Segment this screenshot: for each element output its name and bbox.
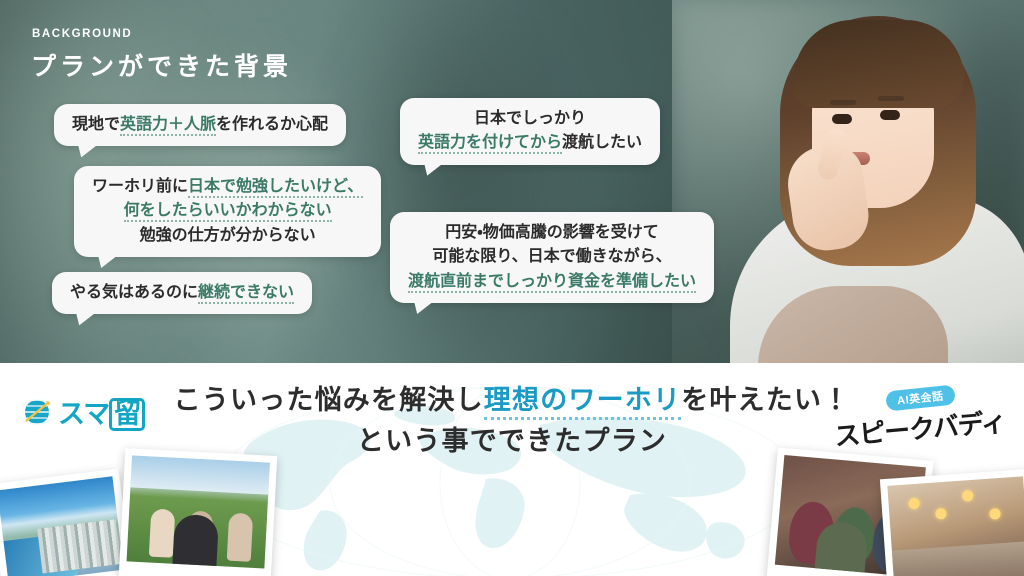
speech-bubble-2: ワーホリ前に日本で勉強したいけど、何をしたらいいかわからない勉強の仕方が分からな… (74, 166, 381, 257)
photo-cafe-interior (880, 469, 1024, 576)
bubble-2-line-1: ワーホリ前に日本で勉強したいけど、 (92, 175, 363, 199)
hero-section: BACKGROUND プランができた背景 現地で英語力＋人脈を作れるか心配 ワー… (0, 0, 1024, 363)
bubble-2-line-2: 何をしたらいいかわからない (92, 199, 363, 223)
photo-coastal-city (0, 469, 133, 576)
logo-smaryu-prefix: スマ (58, 399, 109, 429)
lead-line1-pre: こういった悩みを解決し (174, 385, 484, 415)
globe-icon (22, 397, 52, 427)
bubble-2-line-3: 勉強の仕方が分からない (92, 224, 363, 248)
slide-root: BACKGROUND プランができた背景 現地で英語力＋人脈を作れるか心配 ワー… (0, 0, 1024, 576)
logo-speakbuddy[interactable]: AI英会話 スピークバディ (834, 388, 1006, 446)
bubble-2-run-1-1: ワーホリ前に (92, 178, 188, 195)
bubble-1-line-1: 現地で英語力＋人脈を作れるか心配 (72, 113, 328, 137)
bubble-4-line-2: 英語力を付けてから渡航したい (418, 131, 642, 155)
bubble-1-run-1-1: 現地で (72, 116, 120, 133)
lead-line1-post: を叶えたい！ (681, 385, 850, 415)
photo-bulb-4 (989, 508, 1001, 520)
logo-speakbuddy-text: スピークバディ (833, 402, 1007, 454)
bubble-5-line-3: 渡航直前までしっかり資金を準備したい (408, 270, 696, 294)
photo-skyline (37, 520, 121, 574)
speech-bubble-4: 日本でしっかり英語力を付けてから渡航したい (400, 98, 660, 165)
bubble-5-line-2: 可能な限り、日本で働きながら、 (408, 245, 696, 269)
portrait-eye-left (832, 114, 852, 124)
bubble-5-line-1: 円安・物価高騰の影響を受けて (408, 221, 696, 245)
bubble-5-run-3-1: 渡航直前までしっかり資金を準備したい (408, 273, 696, 293)
photo-person-front (172, 514, 219, 568)
photo-bulb-2 (935, 508, 947, 520)
speech-bubble-5: 円安・物価高騰の影響を受けて可能な限り、日本で働きながら、渡航直前までしっかり資… (390, 212, 714, 303)
bubble-5-run-1-1: 円安・物価高騰の影響を受けて (445, 224, 658, 241)
bubble-2-run-1-2: 日本で勉強したいけど、 (188, 178, 363, 198)
bubble-3-run-1-2: 継続できない (198, 284, 294, 304)
bubble-1-run-1-3: を作れるか心配 (216, 116, 328, 133)
portrait-brow-right (878, 96, 904, 101)
speech-bubble-1: 現地で英語力＋人脈を作れるか心配 (54, 104, 346, 146)
photo-tables (892, 542, 1024, 576)
bubble-1-run-1-2: 英語力＋人脈 (120, 116, 216, 136)
photo-bulb-1 (908, 498, 920, 510)
photo-person-3 (227, 512, 253, 561)
photo-park-group (119, 448, 277, 576)
portrait-brow-left (830, 100, 856, 105)
photo-bulb-3 (962, 490, 974, 502)
bubble-4-line-1: 日本でしっかり (418, 107, 642, 131)
portrait-photo (672, 0, 1024, 363)
portrait-fringe (794, 20, 964, 108)
logo-smaryu-text: スマ留 (58, 392, 145, 431)
bubble-4-run-2-1: 英語力を付けてから (418, 134, 562, 154)
bubble-3-run-1-1: やる気はあるのに (70, 284, 198, 301)
logo-smaryu[interactable]: スマ留 (22, 392, 145, 431)
lead-line1-accent: 理想のワーホリ (484, 385, 681, 420)
speech-bubble-3: やる気はあるのに継続できない (52, 272, 312, 314)
section-kicker: BACKGROUND (32, 28, 132, 40)
bubble-3-line-1: やる気はあるのに継続できない (70, 281, 294, 305)
page-title: プランができた背景 (31, 47, 292, 83)
logo-smaryu-boxed: 留 (109, 398, 145, 431)
bubble-4-run-1-1: 日本でしっかり (474, 110, 586, 127)
portrait-eye-right (880, 110, 900, 120)
photo-person-1 (149, 508, 175, 557)
bubble-5-run-2-1: 可能な限り、日本で働きながら、 (432, 248, 671, 265)
bubble-4-run-2-2: 渡航したい (562, 134, 642, 151)
photo-sky (130, 455, 269, 494)
bubble-2-run-2-1: 何をしたらいいかわからない (124, 202, 332, 222)
bubble-2-run-3-1: 勉強の仕方が分からない (140, 227, 316, 244)
